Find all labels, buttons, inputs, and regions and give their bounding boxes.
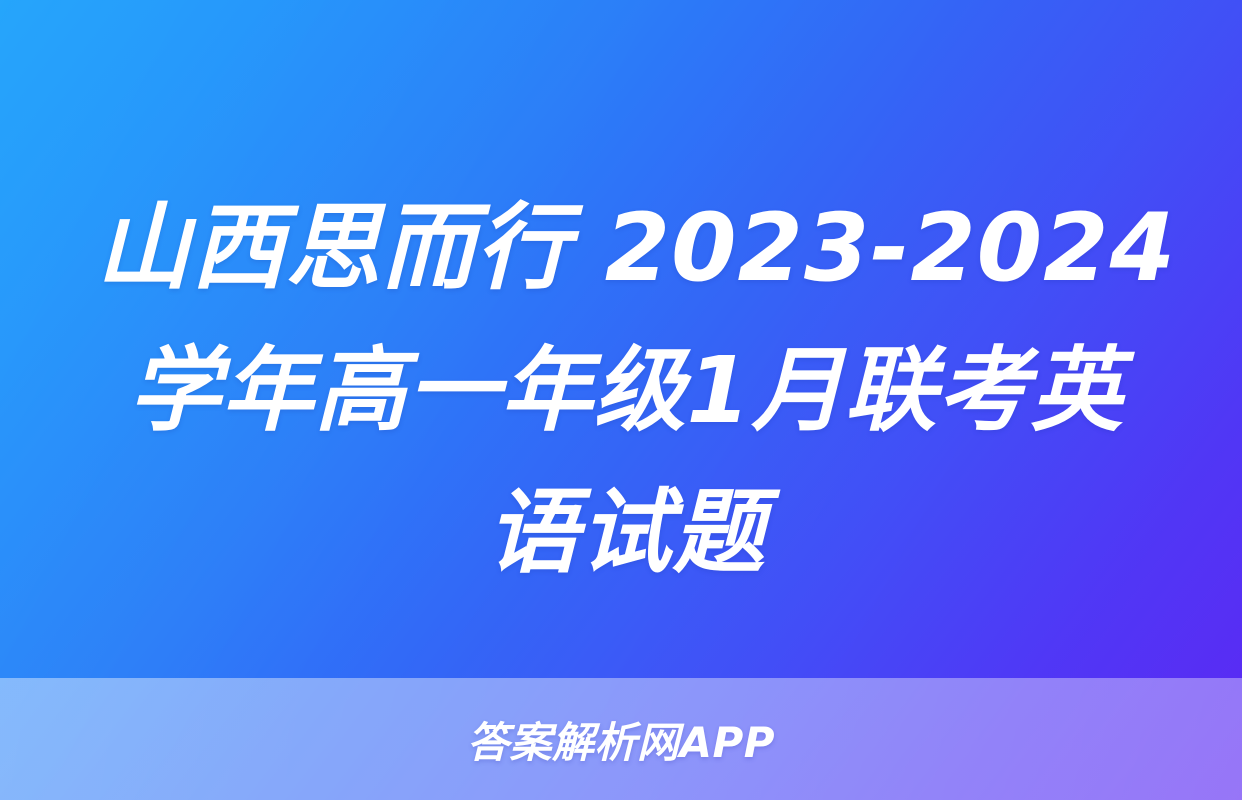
exam-cover-card: 山西思而行 2023-2024 学年高一年级1月联考英 语试题 答案解析网APP	[0, 0, 1242, 800]
cover-title: 山西思而行 2023-2024 学年高一年级1月联考英 语试题	[96, 178, 1156, 604]
watermark-banner: 答案解析网APP	[0, 678, 1242, 800]
title-line-3: 语试题	[96, 462, 1156, 604]
watermark-app-label: 答案解析网APP	[467, 709, 775, 770]
title-line-2: 学年高一年级1月联考英	[96, 320, 1156, 462]
title-line-1: 山西思而行 2023-2024	[96, 178, 1156, 320]
